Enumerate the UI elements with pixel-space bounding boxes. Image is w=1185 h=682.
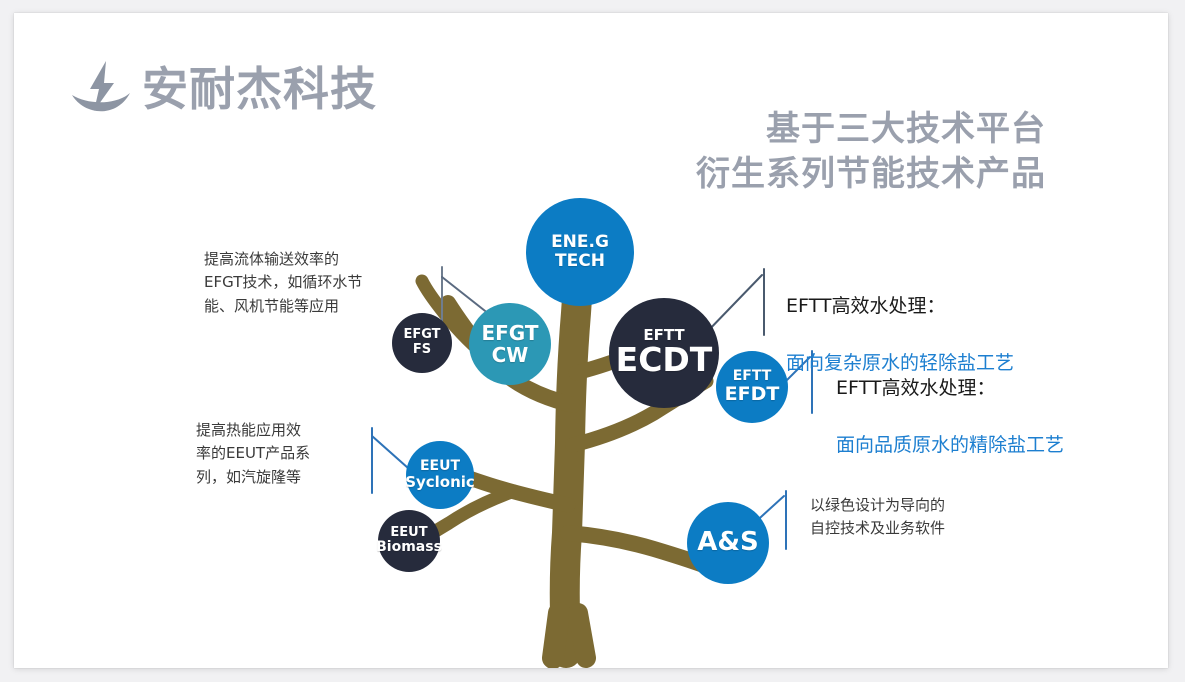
node-as[interactable]: A&S <box>687 502 769 584</box>
node-efgt-cw-line1: EFGT <box>481 322 538 344</box>
node-eeut-syclonic[interactable]: EEUT Syclonic <box>406 441 474 509</box>
node-eeut-syclonic-line1: EEUT <box>420 459 460 475</box>
slide-card: 安耐杰科技 基于三大技术平台 衍生系列节能技术产品 <box>14 13 1168 668</box>
page-title: 基于三大技术平台 衍生系列节能技术产品 <box>696 107 1046 197</box>
node-eftt-ecdt-line2: ECDT <box>616 342 713 379</box>
annotation-eftt-complex-title: EFTT高效水处理： <box>786 292 1146 321</box>
node-eneg-tech[interactable]: ENE.G TECH <box>526 198 634 306</box>
lightning-bolt-logo-icon <box>66 53 138 125</box>
annotation-eftt-fine: EFTT高效水处理： 面向品质原水的精除盐工艺 <box>836 345 1185 488</box>
leader-diagonal-eftt-cw <box>704 275 762 335</box>
annotation-as: 以绿色设计为导向的 自控技术及业务软件 <box>810 494 1040 541</box>
node-efgt-fs[interactable]: EFGT FS <box>392 313 452 373</box>
node-efgt-fs-line1: EFGT <box>403 328 440 343</box>
node-eeut-biomass-line1: EEUT <box>390 526 427 541</box>
annotation-eftt-fine-detail: 面向品质原水的精除盐工艺 <box>836 431 1185 460</box>
node-eftt-ecdt[interactable]: EFTT ECDT <box>609 298 719 408</box>
node-as-label: A&S <box>697 528 759 557</box>
node-efgt-cw[interactable]: EFGT CW <box>469 303 551 385</box>
node-eeut-biomass-line2: Biomass <box>376 540 442 556</box>
annotation-eeut: 提高热能应用效 率的EEUT产品系 列，如汽旋隆等 <box>196 419 366 489</box>
annotation-efgt: 提高流体输送效率的 EFGT技术，如循环水节 能、风机节能等应用 <box>204 248 419 318</box>
page-title-line2: 衍生系列节能技术产品 <box>696 152 1046 197</box>
annotation-eftt-fine-title: EFTT高效水处理： <box>836 374 1185 403</box>
node-eeut-biomass[interactable]: EEUT Biomass <box>378 510 440 572</box>
node-efgt-fs-line2: FS <box>413 343 431 358</box>
node-eftt-efdt[interactable]: EFTT EFDT <box>716 351 788 423</box>
brand-wordmark: 安耐杰科技 <box>142 66 377 112</box>
brand-logo: 安耐杰科技 <box>66 53 377 125</box>
node-eeut-syclonic-line2: Syclonic <box>405 474 475 491</box>
slide-background: 安耐杰科技 基于三大技术平台 衍生系列节能技术产品 <box>0 0 1185 682</box>
node-eneg-tech-label: ENE.G TECH <box>526 233 634 271</box>
node-efgt-cw-line2: CW <box>492 344 529 366</box>
node-eftt-efdt-line2: EFDT <box>725 384 780 405</box>
node-eftt-efdt-line1: EFTT <box>733 369 772 385</box>
page-title-line1: 基于三大技术平台 <box>696 107 1046 152</box>
